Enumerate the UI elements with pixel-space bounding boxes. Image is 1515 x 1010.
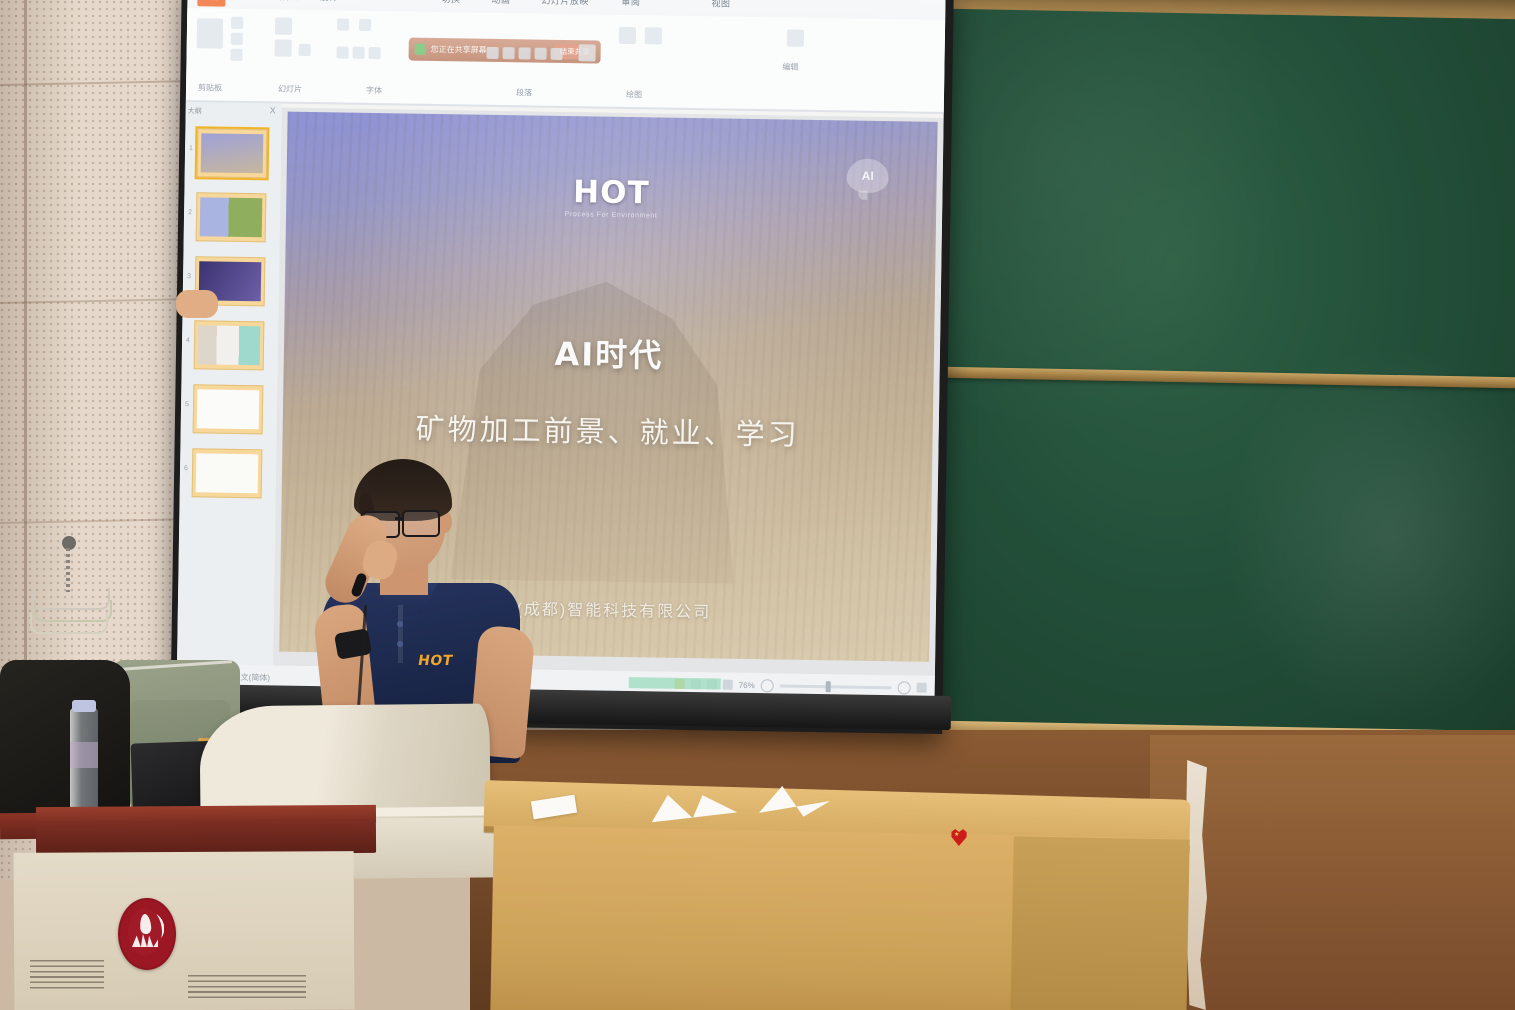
layout-icon[interactable] <box>275 39 292 56</box>
lecture-hall-photo: 文件 开始 插入 设计 切换 动画 幻灯片放映 审阅 视图 剪贴板 幻灯片 <box>0 0 1515 1010</box>
thumbnail-slide-6[interactable]: 6 <box>192 448 263 498</box>
wall-seam <box>0 518 196 524</box>
thumbnail-number: 6 <box>184 465 188 472</box>
share-icon <box>415 44 426 55</box>
copy-icon[interactable] <box>231 33 243 45</box>
thumbnail-number: 3 <box>187 273 191 280</box>
group-editing: 编辑 <box>782 61 798 72</box>
font-name-box[interactable] <box>337 18 349 30</box>
align-center-icon[interactable] <box>535 48 547 60</box>
tab-animation[interactable]: 动画 <box>491 0 510 6</box>
align-right-icon[interactable] <box>551 48 563 60</box>
tab-design[interactable]: 设计 <box>319 0 338 3</box>
thumbnail-number: 1 <box>189 145 193 152</box>
shirt-button <box>397 621 403 627</box>
group-clipboard: 剪贴板 <box>198 82 222 93</box>
presenter-placket <box>398 605 403 663</box>
sticker-star-icon: ★ <box>954 832 959 838</box>
group-font: 字体 <box>366 85 382 96</box>
thumbnail-slide-5[interactable]: 5 <box>193 384 264 434</box>
lectern-top <box>36 819 376 855</box>
wall-corner <box>24 0 27 700</box>
group-paragraph: 段落 <box>516 87 532 98</box>
group-drawing: 绘图 <box>626 89 642 100</box>
thumbnail-preview <box>197 389 260 429</box>
hanger-chain <box>66 548 70 592</box>
find-icon[interactable] <box>787 30 804 47</box>
bold-icon[interactable] <box>337 46 349 58</box>
eyeglasses-bridge <box>395 517 404 520</box>
zoom-in-button[interactable] <box>898 681 911 694</box>
zoom-slider-knob[interactable] <box>826 681 831 692</box>
zoom-slider[interactable] <box>780 684 892 689</box>
presenter-shirt-logo: HOT <box>417 653 454 669</box>
cut-icon[interactable] <box>231 17 243 29</box>
water-bottle-cap <box>72 700 96 712</box>
underline-icon[interactable] <box>369 47 381 59</box>
thumbnail-preview <box>198 325 261 365</box>
ai-brain-icon: AI <box>846 158 889 193</box>
close-icon[interactable]: X <box>270 105 276 115</box>
zoom-level: 76% <box>739 680 755 689</box>
wall-seam <box>0 80 196 86</box>
projection-screen: 文件 开始 插入 设计 切换 动画 幻灯片放映 审阅 视图 剪贴板 幻灯片 <box>176 0 945 712</box>
podium-desk-side <box>1010 836 1190 1010</box>
wps-ribbon: 文件 开始 插入 设计 切换 动画 幻灯片放映 审阅 视图 剪贴板 幻灯片 <box>186 0 946 114</box>
toast-text: 您正在共享屏幕 <box>431 44 487 56</box>
fit-window-icon[interactable] <box>917 683 927 693</box>
presenter-right-hand <box>176 290 218 318</box>
thumbnail-slide-4[interactable]: 4 <box>194 320 265 370</box>
clothes-hanger <box>30 612 108 634</box>
shirt-button <box>397 641 403 647</box>
statusbar-highlight <box>629 677 721 689</box>
number-list-icon[interactable] <box>503 47 515 59</box>
thumbnail-number: 4 <box>186 337 190 344</box>
text-direction-icon[interactable] <box>579 44 596 61</box>
font-size-box[interactable] <box>359 19 371 31</box>
align-left-icon[interactable] <box>519 47 531 59</box>
tab-file[interactable]: 文件 <box>197 0 225 7</box>
thumbnail-preview <box>196 453 259 493</box>
section-icon[interactable] <box>299 44 311 56</box>
thumbnail-number: 5 <box>185 401 189 408</box>
thumb-pane-header: 大纲 <box>188 106 280 123</box>
wall-seam <box>0 298 196 304</box>
view-slideshow-icon[interactable] <box>723 680 733 690</box>
tab-view[interactable]: 视图 <box>711 0 730 10</box>
tab-transition[interactable]: 切换 <box>441 0 460 5</box>
tab-review[interactable]: 审阅 <box>621 0 640 8</box>
eyeglasses-right-lens <box>402 510 440 537</box>
thumbnail-preview <box>201 133 264 173</box>
thumbnail-preview <box>200 197 263 237</box>
tab-insert[interactable]: 插入 <box>279 0 298 3</box>
format-painter-icon[interactable] <box>230 49 242 61</box>
shapes-icon[interactable] <box>619 27 636 44</box>
lectern-vent <box>30 960 104 990</box>
tab-start[interactable]: 开始 <box>239 0 258 2</box>
bullet-list-icon[interactable] <box>487 47 499 59</box>
tab-slideshow[interactable]: 幻灯片放映 <box>541 0 589 7</box>
group-slides: 幻灯片 <box>278 84 302 95</box>
zoom-out-button[interactable] <box>761 679 774 692</box>
arrange-icon[interactable] <box>645 27 662 44</box>
italic-icon[interactable] <box>353 47 365 59</box>
water-bottle-label <box>70 742 98 768</box>
thumbnail-slide-2[interactable]: 2 <box>196 192 267 242</box>
lectern-vent <box>188 975 306 1001</box>
ribbon-commands: 剪贴板 幻灯片 字体 您正在共享屏幕 结束共享 <box>186 8 945 112</box>
paste-icon[interactable] <box>197 18 223 48</box>
thumbnail-number: 2 <box>188 209 192 216</box>
thumbnail-slide-1[interactable]: 1 <box>197 128 268 178</box>
new-slide-icon[interactable] <box>275 17 292 34</box>
